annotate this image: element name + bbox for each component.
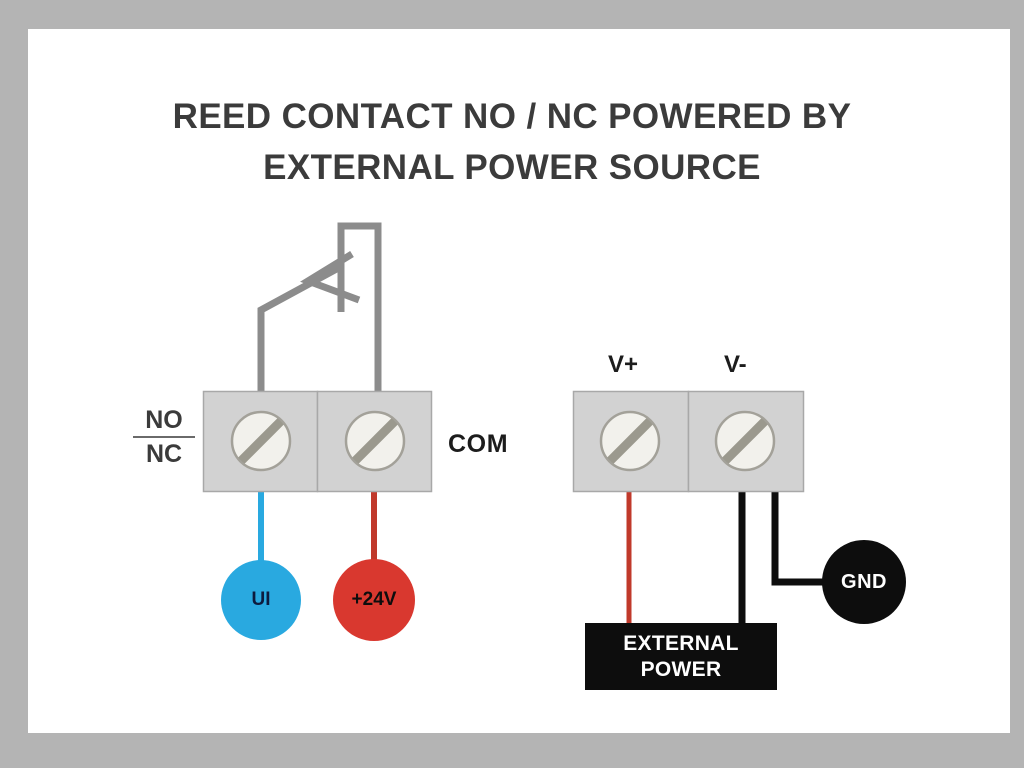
node-ui-label: UI (252, 589, 271, 611)
no-nc-divider (133, 436, 195, 438)
label-nc: NC (133, 440, 195, 468)
label-v-plus: V+ (608, 351, 638, 379)
diagram-page: REED CONTACT NO / NC POWERED BY EXTERNAL… (0, 0, 1024, 768)
node-gnd-label: GND (841, 571, 887, 594)
label-no-nc: NO NC (133, 406, 195, 468)
external-power-box[interactable]: EXTERNAL POWER (585, 623, 777, 690)
label-v-minus: V- (724, 351, 747, 379)
title-line-2: EXTERNAL POWER SOURCE (100, 143, 924, 194)
node-24v-label: +24V (352, 589, 397, 611)
external-power-line-2: POWER (641, 657, 722, 682)
title-line-1: REED CONTACT NO / NC POWERED BY (100, 92, 924, 143)
node-24v[interactable]: +24V (333, 559, 415, 641)
node-ui[interactable]: UI (221, 560, 301, 640)
node-gnd[interactable]: GND (822, 540, 906, 624)
diagram-title: REED CONTACT NO / NC POWERED BY EXTERNAL… (100, 92, 924, 194)
external-power-line-1: EXTERNAL (623, 631, 739, 656)
label-no: NO (133, 406, 195, 434)
label-com: COM (448, 430, 508, 459)
